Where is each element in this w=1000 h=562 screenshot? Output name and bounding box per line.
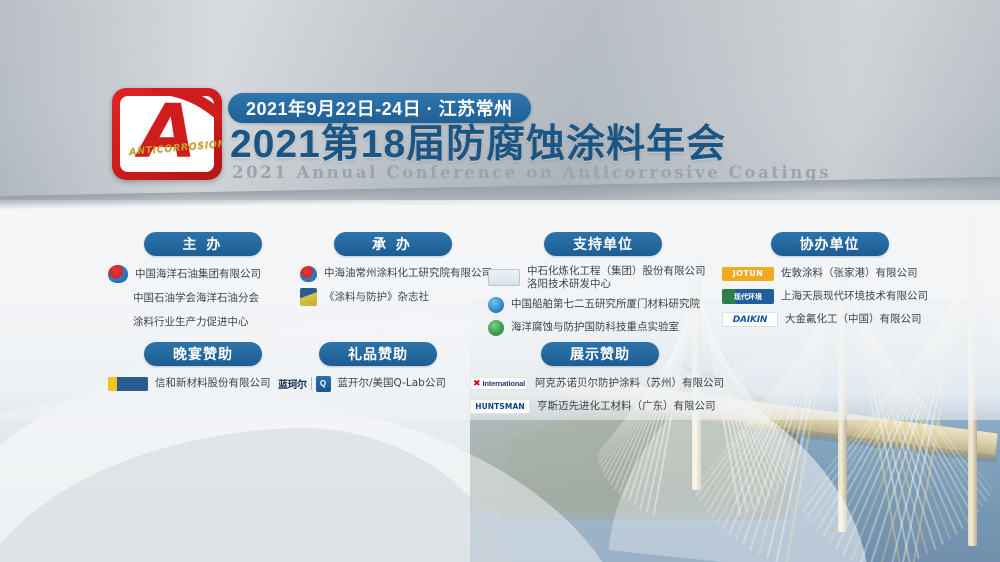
list-item: JOTUN 佐敦涂料（张家港）有限公司 bbox=[722, 265, 937, 282]
section-label-coorganizer: 协办单位 bbox=[771, 232, 889, 256]
section-label-exhibit: 展示赞助 bbox=[541, 342, 659, 366]
lanke-logo-text: 蓝珂尔 bbox=[278, 376, 307, 391]
sinopec-logo-icon bbox=[488, 269, 520, 286]
jotun-logo-icon: JOTUN bbox=[722, 267, 774, 281]
list-item-label: 海洋腐蚀与防护国防科技重点实验室 bbox=[511, 321, 679, 334]
anticorrosion-logo: A ANTICORROSION bbox=[112, 88, 222, 180]
list-item: 《涂料与防护》杂志社 bbox=[300, 288, 485, 306]
list-item-label: 中石化炼化工程（集团）股份有限公司洛阳技术研发中心 bbox=[527, 265, 715, 290]
list-item-label: 中国石油学会海洋石油分会 bbox=[133, 292, 259, 305]
section-host: 承 办 中海油常州涂料化工研究院有限公司 《涂料与防护》杂志社 bbox=[300, 232, 485, 312]
section-banquet: 晚宴赞助 信和新材料股份有限公司 bbox=[108, 342, 298, 398]
hyundai-logo-text: 现代环境 bbox=[722, 289, 774, 304]
list-item-label: 蓝开尔/美国Q-Lab公司 bbox=[338, 377, 446, 390]
hyundai-logo-icon: 现代环境 bbox=[722, 289, 774, 304]
qlab-mark: Q bbox=[316, 376, 331, 392]
magazine-logo-icon bbox=[300, 288, 317, 306]
international-logo-text: International bbox=[483, 379, 525, 388]
huntsman-logo-icon: HUNTSMAN bbox=[470, 399, 530, 414]
list-item: 信和新材料股份有限公司 bbox=[108, 375, 298, 392]
list-item-label: 中国船舶第七二五研究所厦门材料研究院 bbox=[511, 298, 700, 311]
section-label-gift: 礼品赞助 bbox=[319, 342, 437, 366]
list-item: 中石化炼化工程（集团）股份有限公司洛阳技术研发中心 bbox=[488, 265, 718, 290]
logo-inner-plate: A ANTICORROSION bbox=[120, 96, 214, 172]
green-globe-logo-icon bbox=[488, 320, 504, 336]
section-label-host: 承 办 bbox=[334, 232, 452, 256]
list-item-label: 中国海洋石油集团有限公司 bbox=[135, 268, 261, 281]
page-subtitle: 2021 Annual Conference on Anticorrosive … bbox=[232, 163, 831, 182]
list-item: 涂料行业生产力促进中心 bbox=[108, 313, 298, 331]
international-logo-icon: ✖ International bbox=[470, 377, 528, 390]
blue-globe-logo-icon bbox=[488, 297, 504, 313]
list-item: 中国石油学会海洋石油分会 bbox=[108, 289, 298, 307]
list-item: 中国船舶第七二五研究所厦门材料研究院 bbox=[488, 296, 718, 313]
section-exhibit: 展示赞助 ✖ International 阿克苏诺贝尔防护涂料（苏州）有限公司 … bbox=[470, 342, 730, 421]
xinhe-logo-icon bbox=[108, 377, 148, 391]
section-support: 支持单位 中石化炼化工程（集团）股份有限公司洛阳技术研发中心 中国船舶第七二五研… bbox=[488, 232, 718, 342]
list-item-label: 上海天辰现代环境技术有限公司 bbox=[781, 290, 928, 303]
list-item: DAIKIN 大金氟化工（中国）有限公司 bbox=[722, 311, 937, 328]
section-gift: 礼品赞助 蓝珂尔 Q 蓝开尔/美国Q-Lab公司 bbox=[278, 342, 478, 398]
huntsman-logo-text: HUNTSMAN bbox=[470, 399, 530, 414]
cnooc-changzhou-logo-icon bbox=[300, 266, 317, 282]
section-coorganizer: 协办单位 JOTUN 佐敦涂料（张家港）有限公司 现代环境 上海天辰现代环境技术… bbox=[722, 232, 937, 334]
international-logo-mark: ✖ bbox=[473, 379, 481, 388]
qlab-logo-icon: 蓝珂尔 Q bbox=[278, 376, 331, 392]
list-item: 中国海洋石油集团有限公司 bbox=[108, 265, 298, 283]
poster-header: A ANTICORROSION 2021年9月22日-24日 · 江苏常州 20… bbox=[0, 0, 1000, 200]
list-item: ✖ International 阿克苏诺贝尔防护涂料（苏州）有限公司 bbox=[470, 375, 730, 392]
section-label-organizer: 主 办 bbox=[144, 232, 262, 256]
list-item: 现代环境 上海天辰现代环境技术有限公司 bbox=[722, 288, 937, 305]
conference-poster: A ANTICORROSION 2021年9月22日-24日 · 江苏常州 20… bbox=[0, 0, 1000, 562]
list-item-label: 阿克苏诺贝尔防护涂料（苏州）有限公司 bbox=[535, 377, 724, 390]
list-item: 中海油常州涂料化工研究院有限公司 bbox=[300, 265, 485, 282]
section-label-support: 支持单位 bbox=[544, 232, 662, 256]
spacer-icon bbox=[108, 289, 126, 307]
jotun-logo-text: JOTUN bbox=[722, 267, 774, 281]
page-title: 2021第18届防腐蚀涂料年会 bbox=[230, 124, 726, 166]
section-organizer: 主 办 中国海洋石油集团有限公司 中国石油学会海洋石油分会 涂料行业生产力促进中… bbox=[108, 232, 298, 337]
list-item-label: 涂料行业生产力促进中心 bbox=[133, 316, 249, 329]
date-location-badge: 2021年9月22日-24日 · 江苏常州 bbox=[228, 93, 531, 123]
list-item-label: 中海油常州涂料化工研究院有限公司 bbox=[324, 267, 492, 280]
list-item-label: 《涂料与防护》杂志社 bbox=[324, 291, 429, 304]
cnooc-logo-icon bbox=[108, 265, 128, 283]
daikin-logo-text: DAIKIN bbox=[722, 312, 778, 327]
list-item-label: 大金氟化工（中国）有限公司 bbox=[785, 313, 922, 326]
section-label-banquet: 晚宴赞助 bbox=[144, 342, 262, 366]
spacer-icon bbox=[108, 313, 126, 331]
logo-sweep-arc bbox=[112, 88, 222, 180]
list-item: 蓝珂尔 Q 蓝开尔/美国Q-Lab公司 bbox=[278, 375, 478, 392]
sponsor-grid: 主 办 中国海洋石油集团有限公司 中国石油学会海洋石油分会 涂料行业生产力促进中… bbox=[0, 232, 1000, 422]
daikin-logo-icon: DAIKIN bbox=[722, 312, 778, 327]
list-item-label: 亨斯迈先进化工材料（广东）有限公司 bbox=[537, 400, 716, 413]
list-item: HUNTSMAN 亨斯迈先进化工材料（广东）有限公司 bbox=[470, 398, 730, 415]
list-item-label: 信和新材料股份有限公司 bbox=[155, 377, 271, 390]
list-item: 海洋腐蚀与防护国防科技重点实验室 bbox=[488, 319, 718, 336]
list-item-label: 佐敦涂料（张家港）有限公司 bbox=[781, 267, 918, 280]
